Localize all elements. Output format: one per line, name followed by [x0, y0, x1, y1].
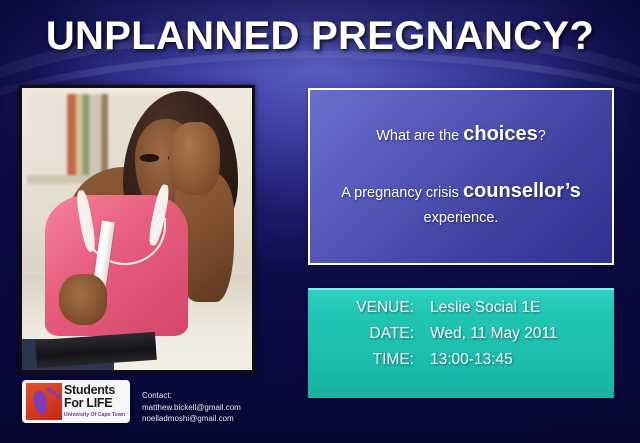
logo-line-university: University Of Cape Town	[64, 412, 128, 418]
message-line-counsellor: A pregnancy crisis counsellor’sexperienc…	[341, 176, 581, 229]
message-line3: experience.	[424, 210, 499, 226]
message-line1-prefix: What are the	[376, 128, 463, 144]
photo-hand-on-forehead	[169, 122, 220, 195]
logo-line-for-life: For LIFE	[64, 397, 128, 410]
detail-row-venue: VENUE: Leslie Social 1E	[308, 299, 614, 317]
detail-label-venue: VENUE:	[308, 299, 430, 317]
detail-value-time: 13:00-13:45	[430, 351, 614, 369]
event-poster: UNPLANNED PREGNANCY? What are the choice…	[0, 0, 640, 443]
contact-email-1[interactable]: matthew.bickell@gmail.com	[142, 402, 241, 414]
message-box: What are the choices? A pregnancy crisis…	[308, 88, 614, 265]
photo-hand-holding-test	[59, 274, 107, 325]
page-title: UNPLANNED PREGNANCY?	[0, 14, 640, 59]
detail-row-date: DATE: Wed, 11 May 2011	[308, 325, 614, 343]
footprint-toe-3-icon	[56, 394, 60, 399]
logo-text-group: Students For LIFE University Of Cape Tow…	[64, 384, 128, 418]
message-line1-emphasis: choices	[463, 123, 537, 145]
message-line1-suffix: ?	[538, 128, 546, 144]
contact-email-2[interactable]: noelladmoshi@gmail.com	[142, 413, 241, 425]
photo-eye-left	[140, 154, 158, 161]
contact-heading: Contact:	[142, 390, 241, 402]
detail-value-venue: Leslie Social 1E	[430, 299, 614, 317]
detail-label-time: TIME:	[308, 351, 430, 369]
event-details-box: VENUE: Leslie Social 1E DATE: Wed, 11 Ma…	[308, 288, 614, 398]
message-line2-emphasis: counsellor’s	[463, 180, 581, 202]
message-line-choices: What are the choices?	[376, 123, 546, 146]
detail-label-date: DATE:	[308, 325, 430, 343]
message-line2-prefix: A pregnancy crisis	[341, 185, 463, 201]
photo-frame	[19, 85, 255, 373]
detail-value-date: Wed, 11 May 2011	[430, 325, 614, 343]
contact-block: Contact: matthew.bickell@gmail.com noell…	[142, 390, 241, 425]
detail-row-time: TIME: 13:00-13:45	[308, 351, 614, 369]
students-for-life-logo: Students For LIFE University Of Cape Tow…	[22, 380, 130, 423]
